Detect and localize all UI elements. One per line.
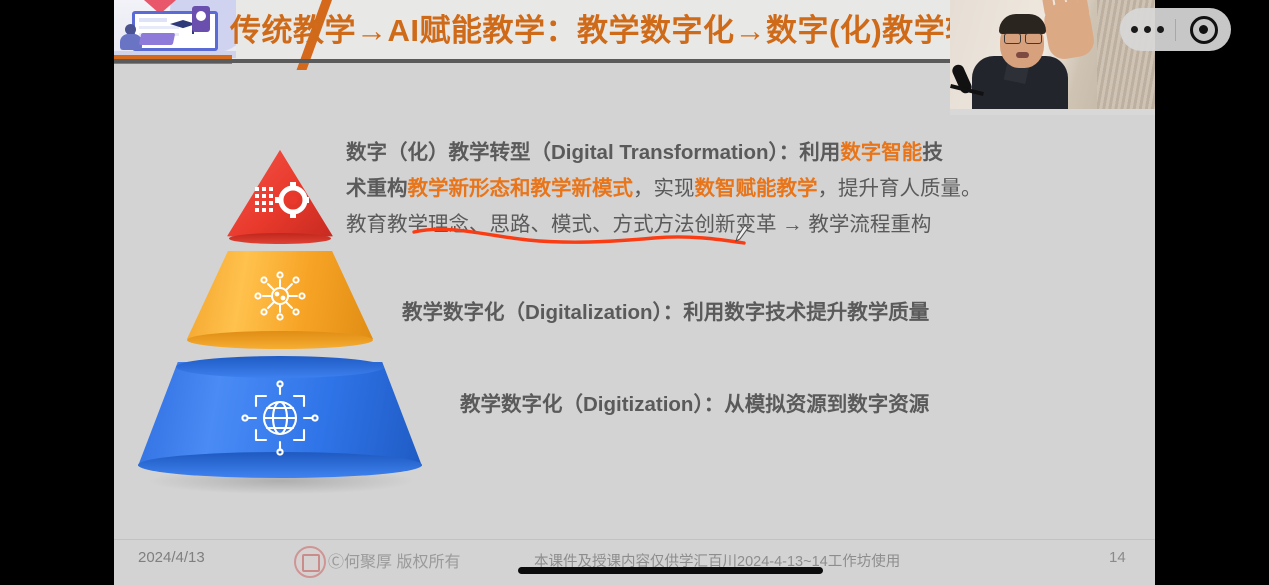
paragraph-1-line-1: 数字（化）教学转型（Digital Transformation）：利用数字智能…	[346, 135, 943, 165]
pyramid-tier-bottom	[138, 356, 422, 484]
record-target-icon[interactable]	[1176, 8, 1231, 51]
p1-l2-mid: ，实现	[633, 177, 695, 200]
university-seal-icon	[294, 546, 326, 578]
pyramid-tier-top	[227, 148, 333, 240]
footer-redaction-bar	[518, 567, 823, 574]
gear-pixels-icon	[253, 178, 309, 224]
footer-page-number: 14	[1109, 549, 1126, 566]
p1-l1-highlight: 数字智能	[840, 141, 922, 164]
p1-l1-post: 技	[922, 141, 943, 164]
pyramid-tier-middle	[187, 251, 373, 351]
circuit-node-icon	[247, 265, 313, 327]
screen-root: 传统教学→AI赋能教学：教学数字化→数字(化)教学转型	[0, 0, 1269, 585]
ellipsis-icon[interactable]	[1120, 8, 1175, 51]
p1-l2-highlight-2: 数智赋能教学	[695, 177, 818, 200]
footer-date: 2024/4/13	[138, 549, 205, 566]
paragraph-3: 教学数字化（Digitization）：从模拟资源到数字资源	[460, 387, 929, 417]
p1-l2-highlight-1: 教学新形态和教学新模式	[408, 177, 634, 200]
p1-l2-pre: 术重构	[346, 177, 408, 200]
pen-cursor-icon	[734, 223, 750, 243]
footer-divider	[114, 539, 1155, 540]
p1-l1-pre: 数字（化）教学转型（Digital Transformation）：利用	[346, 141, 840, 164]
paragraph-1-line-3: 教育教学理念、思路、模式、方式方法创新变革 → 教学流程重构	[346, 207, 931, 237]
p1-l2-post: ，提升育人质量。	[818, 177, 982, 200]
presenter-glasses	[1004, 33, 1042, 42]
paragraph-2: 教学数字化（Digitalization）：利用数字技术提升教学质量	[402, 295, 929, 325]
footer-copyright: Ⓒ何聚厚 版权所有	[328, 548, 460, 572]
video-controls-pill[interactable]	[1120, 8, 1231, 51]
paragraph-1-line-2: 术重构教学新形态和教学新模式，实现数智赋能教学，提升育人质量。	[346, 171, 982, 201]
globe-circuit-icon	[238, 380, 322, 456]
elearning-illustration-icon	[114, 0, 236, 58]
